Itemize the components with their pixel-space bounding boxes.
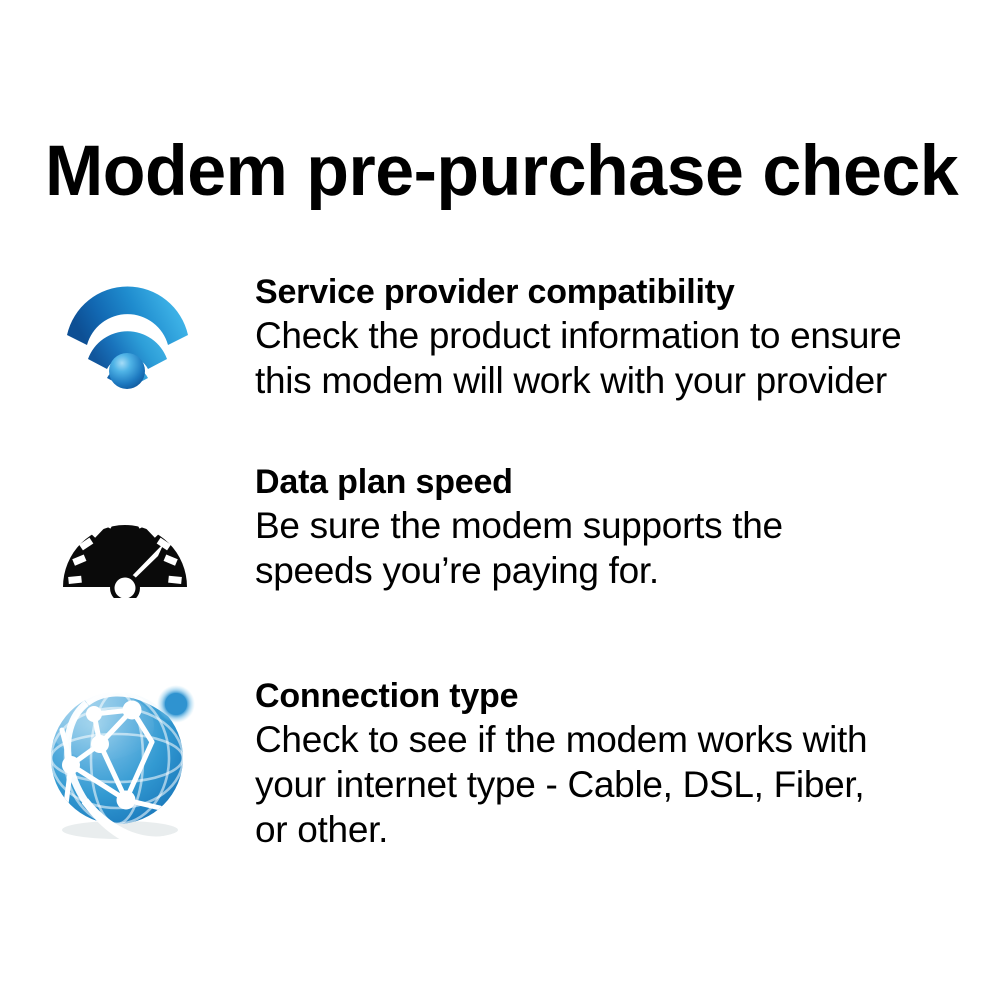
body-line: Be sure the modem supports the xyxy=(255,503,955,548)
checklist-item-text: Data plan speed Be sure the modem suppor… xyxy=(255,462,955,593)
checklist-item-text: Service provider compatibility Check the… xyxy=(255,272,955,403)
checklist-item-text: Connection type Check to see if the mode… xyxy=(255,676,955,852)
wifi-icon xyxy=(55,277,200,392)
globe-network-icon xyxy=(40,678,220,858)
checklist-item-body: Be sure the modem supports the speeds yo… xyxy=(255,503,955,593)
infographic-page: Modem pre-purchase check xyxy=(0,0,1000,1000)
checklist-item-body: Check the product information to ensure … xyxy=(255,313,955,403)
checklist-item-heading: Data plan speed xyxy=(255,462,955,503)
page-title: Modem pre-purchase check xyxy=(45,136,951,207)
body-line: or other. xyxy=(255,807,955,852)
body-line: Check the product information to ensure xyxy=(255,313,955,358)
checklist-item-heading: Service provider compatibility xyxy=(255,272,955,313)
body-line: Check to see if the modem works with xyxy=(255,717,955,762)
body-line: speeds you’re paying for. xyxy=(255,548,955,593)
checklist-item-heading: Connection type xyxy=(255,676,955,717)
speedometer-icon xyxy=(60,502,190,598)
body-line: this modem will work with your provider xyxy=(255,358,955,403)
checklist-item-body: Check to see if the modem works with you… xyxy=(255,717,955,852)
body-line: your internet type - Cable, DSL, Fiber, xyxy=(255,762,955,807)
